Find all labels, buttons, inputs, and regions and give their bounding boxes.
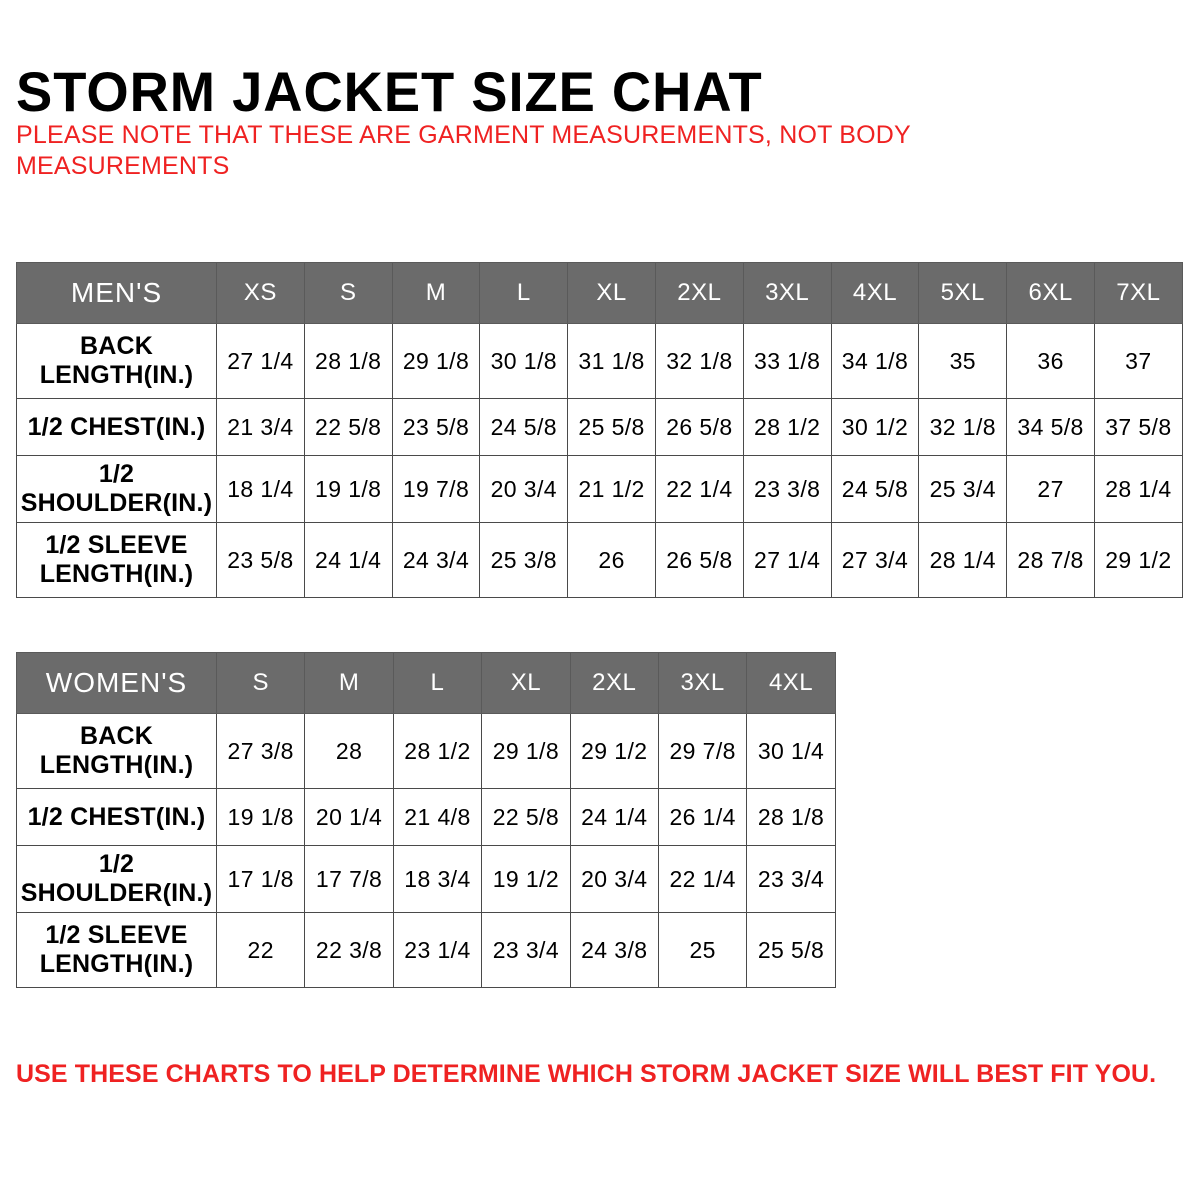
measurement-cell: 23 5/8 <box>392 399 480 456</box>
measurement-cell: 21 1/2 <box>568 456 656 523</box>
measurement-cell: 26 5/8 <box>655 399 743 456</box>
measurement-cell: 17 1/8 <box>217 846 305 913</box>
mens-row-label: 1/2 SHOULDER(IN.) <box>17 456 217 523</box>
measurement-cell: 25 3/8 <box>480 523 568 598</box>
womens-column-header-s: S <box>217 653 305 714</box>
measurement-cell: 21 4/8 <box>393 789 481 846</box>
measurement-cell: 23 3/8 <box>743 456 831 523</box>
measurement-cell: 28 1/4 <box>919 523 1007 598</box>
measurement-cell: 26 5/8 <box>655 523 743 598</box>
measurement-cell: 20 3/4 <box>480 456 568 523</box>
mens-row-label: 1/2 SLEEVELENGTH(IN.) <box>17 523 217 598</box>
measurement-cell: 37 <box>1094 324 1182 399</box>
table-row: BACKLENGTH(IN.)27 1/428 1/829 1/830 1/83… <box>17 324 1183 399</box>
measurement-cell: 18 3/4 <box>393 846 481 913</box>
measurement-cell: 27 <box>1007 456 1095 523</box>
measurement-cell: 29 1/8 <box>482 714 570 789</box>
table-row: 1/2 SHOULDER(IN.)18 1/419 1/819 7/820 3/… <box>17 456 1183 523</box>
measurement-cell: 18 1/4 <box>217 456 305 523</box>
womens-row-label: 1/2 SLEEVELENGTH(IN.) <box>17 913 217 988</box>
measurement-cell: 30 1/4 <box>747 714 835 789</box>
womens-column-header-4xl: 4XL <box>747 653 835 714</box>
measurement-cell: 24 3/4 <box>392 523 480 598</box>
measurement-cell: 28 7/8 <box>1007 523 1095 598</box>
measurement-cell: 26 1/4 <box>658 789 746 846</box>
womens-column-header-3xl: 3XL <box>658 653 746 714</box>
womens-column-header-m: M <box>305 653 393 714</box>
measurement-cell: 24 1/4 <box>570 789 658 846</box>
measurement-cell: 24 3/8 <box>570 913 658 988</box>
measurement-cell: 22 3/8 <box>305 913 393 988</box>
womens-size-table: WOMEN'SSMLXL2XL3XL4XL BACKLENGTH(IN.)27 … <box>16 652 836 988</box>
mens-column-header-4xl: 4XL <box>831 263 919 324</box>
mens-column-header-xl: XL <box>568 263 656 324</box>
measurement-cell: 32 1/8 <box>919 399 1007 456</box>
measurement-cell: 28 1/4 <box>1094 456 1182 523</box>
mens-row-label: BACKLENGTH(IN.) <box>17 324 217 399</box>
measurement-cell: 27 1/4 <box>743 523 831 598</box>
measurement-cell: 22 5/8 <box>304 399 392 456</box>
measurement-cell: 29 7/8 <box>658 714 746 789</box>
measurement-cell: 25 3/4 <box>919 456 1007 523</box>
measurement-cell: 31 1/8 <box>568 324 656 399</box>
womens-column-header-l: L <box>393 653 481 714</box>
measurement-cell: 35 <box>919 324 1007 399</box>
mens-column-header-xs: XS <box>217 263 305 324</box>
womens-header-row: WOMEN'SSMLXL2XL3XL4XL <box>17 653 836 714</box>
measurement-cell: 30 1/8 <box>480 324 568 399</box>
measurement-cell: 26 <box>568 523 656 598</box>
fit-help-note: USE THESE CHARTS TO HELP DETERMINE WHICH… <box>16 1058 1176 1090</box>
mens-corner-label: MEN'S <box>17 263 217 324</box>
mens-column-header-5xl: 5XL <box>919 263 1007 324</box>
measurement-cell: 23 3/4 <box>482 913 570 988</box>
measurement-cell: 28 <box>305 714 393 789</box>
measurement-cell: 28 1/2 <box>393 714 481 789</box>
measurement-cell: 30 1/2 <box>831 399 919 456</box>
table-row: BACKLENGTH(IN.)27 3/82828 1/229 1/829 1/… <box>17 714 836 789</box>
mens-column-header-s: S <box>304 263 392 324</box>
measurement-cell: 22 1/4 <box>658 846 746 913</box>
measurement-cell: 24 1/4 <box>304 523 392 598</box>
mens-row-label: 1/2 CHEST(IN.) <box>17 399 217 456</box>
measurement-cell: 34 5/8 <box>1007 399 1095 456</box>
measurement-cell: 32 1/8 <box>655 324 743 399</box>
measurement-cell: 34 1/8 <box>831 324 919 399</box>
measurement-cell: 22 1/4 <box>655 456 743 523</box>
mens-size-table: MEN'SXSSMLXL2XL3XL4XL5XL6XL7XL BACKLENGT… <box>16 262 1183 598</box>
measurement-cell: 33 1/8 <box>743 324 831 399</box>
measurement-cell: 23 1/4 <box>393 913 481 988</box>
measurement-cell: 22 <box>217 913 305 988</box>
measurement-cell: 19 1/8 <box>217 789 305 846</box>
measurement-cell: 25 <box>658 913 746 988</box>
measurement-cell: 21 3/4 <box>217 399 305 456</box>
measurement-cell: 27 3/4 <box>831 523 919 598</box>
mens-column-header-7xl: 7XL <box>1094 263 1182 324</box>
table-row: 1/2 CHEST(IN.)21 3/422 5/823 5/824 5/825… <box>17 399 1183 456</box>
mens-column-header-l: L <box>480 263 568 324</box>
mens-column-header-3xl: 3XL <box>743 263 831 324</box>
womens-column-header-2xl: 2XL <box>570 653 658 714</box>
table-row: 1/2 CHEST(IN.)19 1/820 1/421 4/822 5/824… <box>17 789 836 846</box>
measurement-cell: 25 5/8 <box>747 913 835 988</box>
measurement-cell: 22 5/8 <box>482 789 570 846</box>
measurement-cell: 29 1/2 <box>570 714 658 789</box>
measurement-cell: 24 5/8 <box>480 399 568 456</box>
womens-corner-label: WOMEN'S <box>17 653 217 714</box>
womens-column-header-xl: XL <box>482 653 570 714</box>
mens-header-row: MEN'SXSSMLXL2XL3XL4XL5XL6XL7XL <box>17 263 1183 324</box>
measurement-cell: 27 1/4 <box>217 324 305 399</box>
womens-row-label: 1/2 CHEST(IN.) <box>17 789 217 846</box>
measurement-cell: 20 1/4 <box>305 789 393 846</box>
mens-column-header-m: M <box>392 263 480 324</box>
mens-column-header-6xl: 6XL <box>1007 263 1095 324</box>
measurement-cell: 25 5/8 <box>568 399 656 456</box>
womens-row-label: 1/2 SHOULDER(IN.) <box>17 846 217 913</box>
table-row: 1/2 SHOULDER(IN.)17 1/817 7/818 3/419 1/… <box>17 846 836 913</box>
womens-table-header: WOMEN'SSMLXL2XL3XL4XL <box>17 653 836 714</box>
measurement-cell: 23 3/4 <box>747 846 835 913</box>
measurement-cell: 28 1/2 <box>743 399 831 456</box>
womens-table-body: BACKLENGTH(IN.)27 3/82828 1/229 1/829 1/… <box>17 714 836 988</box>
table-row: 1/2 SLEEVELENGTH(IN.)2222 3/823 1/423 3/… <box>17 913 836 988</box>
measurement-cell: 28 1/8 <box>747 789 835 846</box>
mens-table-body: BACKLENGTH(IN.)27 1/428 1/829 1/830 1/83… <box>17 324 1183 598</box>
measurement-cell: 36 <box>1007 324 1095 399</box>
measurement-cell: 17 7/8 <box>305 846 393 913</box>
mens-table-header: MEN'SXSSMLXL2XL3XL4XL5XL6XL7XL <box>17 263 1183 324</box>
measurement-cell: 28 1/8 <box>304 324 392 399</box>
measurement-cell: 20 3/4 <box>570 846 658 913</box>
measurement-cell: 24 5/8 <box>831 456 919 523</box>
table-row: 1/2 SLEEVELENGTH(IN.)23 5/824 1/424 3/42… <box>17 523 1183 598</box>
measurement-cell: 19 7/8 <box>392 456 480 523</box>
garment-measurement-note: PLEASE NOTE THAT THESE ARE GARMENT MEASU… <box>16 120 976 182</box>
measurement-cell: 29 1/2 <box>1094 523 1182 598</box>
measurement-cell: 19 1/2 <box>482 846 570 913</box>
measurement-cell: 37 5/8 <box>1094 399 1182 456</box>
womens-row-label: BACKLENGTH(IN.) <box>17 714 217 789</box>
measurement-cell: 19 1/8 <box>304 456 392 523</box>
page-title: STORM JACKET SIZE CHAT <box>16 60 763 124</box>
mens-column-header-2xl: 2XL <box>655 263 743 324</box>
measurement-cell: 27 3/8 <box>217 714 305 789</box>
size-chart-page: STORM JACKET SIZE CHAT PLEASE NOTE THAT … <box>0 0 1200 1200</box>
measurement-cell: 29 1/8 <box>392 324 480 399</box>
measurement-cell: 23 5/8 <box>217 523 305 598</box>
